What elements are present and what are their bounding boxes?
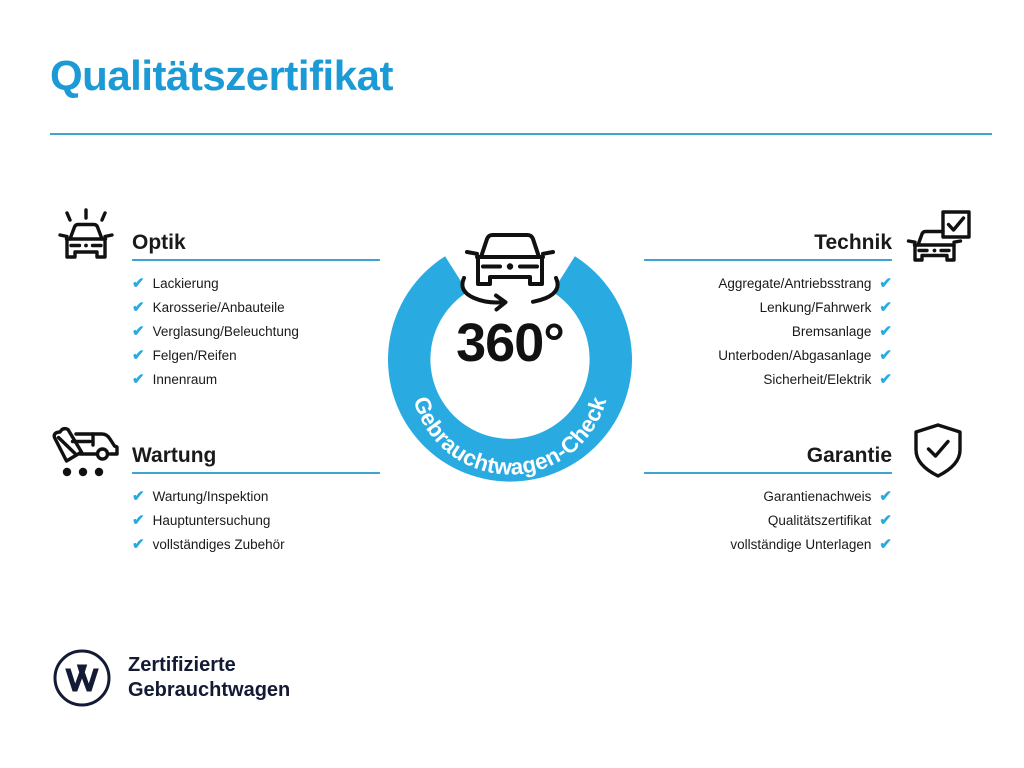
section-technik: Technik ✔ Aggregate/Antriebsstrang ✔ Len… bbox=[644, 205, 974, 391]
check-icon: ✔ bbox=[879, 489, 892, 504]
list-item: ✔ vollständiges Zubehör bbox=[132, 532, 380, 556]
list-item: ✔ Aggregate/Antriebsstrang bbox=[644, 271, 892, 295]
check-icon: ✔ bbox=[879, 513, 892, 528]
vw-logo-icon bbox=[52, 648, 112, 708]
check-icon: ✔ bbox=[879, 300, 892, 315]
title-divider bbox=[50, 133, 992, 135]
section-garantie-header: Garantie bbox=[644, 418, 974, 484]
check-icon: ✔ bbox=[879, 324, 892, 339]
list-item-label: Karosserie/Anbauteile bbox=[153, 300, 285, 315]
section-wartung-title: Wartung bbox=[132, 444, 216, 468]
list-item-label: Innenraum bbox=[153, 372, 218, 387]
list-item: ✔ Lenkung/Fahrwerk bbox=[644, 295, 892, 319]
list-item: ✔ Karosserie/Anbauteile bbox=[132, 295, 380, 319]
section-wartung: Wartung ✔ Wartung/Inspektion ✔ Hauptunte… bbox=[50, 418, 380, 556]
check-icon: ✔ bbox=[132, 537, 145, 552]
section-garantie-divider bbox=[644, 472, 892, 474]
list-item: ✔ Lackierung bbox=[132, 271, 380, 295]
check-icon: ✔ bbox=[879, 537, 892, 552]
shield-check-icon bbox=[902, 420, 974, 482]
list-item: ✔ Innenraum bbox=[132, 367, 380, 391]
section-wartung-divider bbox=[132, 472, 380, 474]
footer-brand: Zertifizierte Gebrauchtwagen bbox=[52, 648, 290, 708]
list-item-label: Verglasung/Beleuchtung bbox=[153, 324, 299, 339]
car-rotate-360-icon bbox=[462, 235, 557, 310]
list-item-label: Wartung/Inspektion bbox=[153, 489, 269, 504]
certificate-page: Qualitätszertifikat bbox=[0, 0, 1024, 768]
badge-360-check: 360° Gebrauchtwagen-Check bbox=[378, 196, 642, 486]
check-icon: ✔ bbox=[132, 489, 145, 504]
list-item-label: vollständige Unterlagen bbox=[730, 537, 871, 552]
section-optik: Optik ✔ Lackierung ✔ Karosserie/Anbautei… bbox=[50, 205, 380, 391]
list-item-label: Lenkung/Fahrwerk bbox=[760, 300, 872, 315]
footer-brand-text: Zertifizierte Gebrauchtwagen bbox=[128, 653, 290, 703]
list-item: ✔ Qualitätszertifikat bbox=[644, 508, 892, 532]
list-item: ✔ Bremsanlage bbox=[644, 319, 892, 343]
section-garantie-title: Garantie bbox=[807, 444, 892, 468]
section-technik-header: Technik bbox=[644, 205, 974, 271]
list-item-label: Qualitätszertifikat bbox=[768, 513, 872, 528]
page-title: Qualitätszertifikat bbox=[50, 52, 393, 100]
pen-car-service-icon bbox=[50, 420, 122, 482]
car-shine-icon bbox=[50, 207, 122, 269]
list-item: ✔ Hauptuntersuchung bbox=[132, 508, 380, 532]
list-item: ✔ Garantienachweis bbox=[644, 484, 892, 508]
section-wartung-list: ✔ Wartung/Inspektion ✔ Hauptuntersuchung… bbox=[50, 484, 380, 556]
check-icon: ✔ bbox=[879, 276, 892, 291]
list-item: ✔ Sicherheit/Elektrik bbox=[644, 367, 892, 391]
footer-line-1: Zertifizierte bbox=[128, 653, 290, 678]
car-lift-check-icon bbox=[902, 207, 974, 269]
section-optik-header: Optik bbox=[50, 205, 380, 271]
check-icon: ✔ bbox=[879, 348, 892, 363]
badge-center-label: 360° bbox=[456, 313, 564, 373]
list-item-label: Felgen/Reifen bbox=[153, 348, 237, 363]
footer-line-2: Gebrauchtwagen bbox=[128, 678, 290, 703]
section-wartung-header: Wartung bbox=[50, 418, 380, 484]
check-icon: ✔ bbox=[879, 372, 892, 387]
list-item-label: Sicherheit/Elektrik bbox=[763, 372, 871, 387]
list-item-label: vollständiges Zubehör bbox=[153, 537, 285, 552]
section-technik-divider bbox=[644, 259, 892, 261]
section-optik-title: Optik bbox=[132, 231, 186, 255]
section-optik-divider bbox=[132, 259, 380, 261]
list-item: ✔ Unterboden/Abgasanlage bbox=[644, 343, 892, 367]
list-item: ✔ vollständige Unterlagen bbox=[644, 532, 892, 556]
list-item-label: Garantienachweis bbox=[763, 489, 871, 504]
check-icon: ✔ bbox=[132, 276, 145, 291]
check-icon: ✔ bbox=[132, 300, 145, 315]
check-icon: ✔ bbox=[132, 372, 145, 387]
list-item: ✔ Wartung/Inspektion bbox=[132, 484, 380, 508]
list-item: ✔ Verglasung/Beleuchtung bbox=[132, 319, 380, 343]
section-garantie: Garantie ✔ Garantienachweis ✔ Qualitätsz… bbox=[644, 418, 974, 556]
list-item-label: Bremsanlage bbox=[792, 324, 872, 339]
section-garantie-list: ✔ Garantienachweis ✔ Qualitätszertifikat… bbox=[644, 484, 974, 556]
list-item-label: Hauptuntersuchung bbox=[153, 513, 271, 528]
check-icon: ✔ bbox=[132, 348, 145, 363]
section-technik-title: Technik bbox=[814, 231, 892, 255]
list-item: ✔ Felgen/Reifen bbox=[132, 343, 380, 367]
check-icon: ✔ bbox=[132, 513, 145, 528]
section-optik-list: ✔ Lackierung ✔ Karosserie/Anbauteile ✔ V… bbox=[50, 271, 380, 391]
list-item-label: Aggregate/Antriebsstrang bbox=[718, 276, 871, 291]
list-item-label: Lackierung bbox=[153, 276, 219, 291]
section-technik-list: ✔ Aggregate/Antriebsstrang ✔ Lenkung/Fah… bbox=[644, 271, 974, 391]
list-item-label: Unterboden/Abgasanlage bbox=[718, 348, 871, 363]
check-icon: ✔ bbox=[132, 324, 145, 339]
